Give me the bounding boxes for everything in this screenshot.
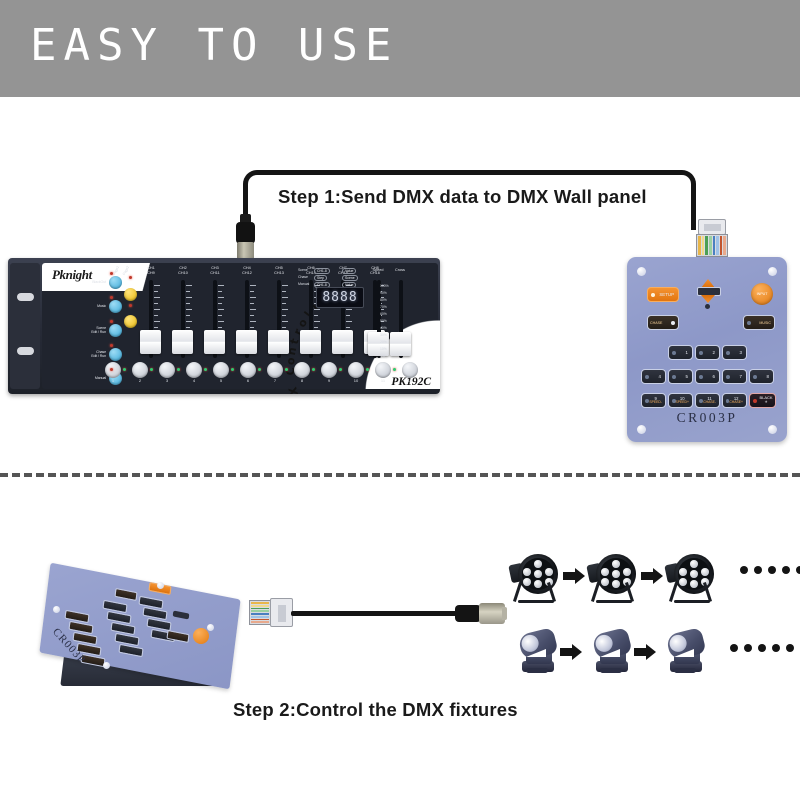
par-led — [523, 568, 531, 576]
scene-button-number: 4 — [186, 378, 202, 383]
channel-led — [285, 368, 288, 371]
par-led — [545, 568, 553, 576]
section-divider — [0, 473, 800, 477]
button-number: 7 — [740, 374, 742, 379]
screw — [768, 425, 777, 434]
mode-button-music[interactable]: Music — [64, 296, 122, 316]
channel-label: CH3CH11 — [202, 266, 228, 275]
button-caption: 12CHASE+ — [729, 397, 743, 405]
scene-button-12[interactable]: 12CHASE+ — [722, 393, 747, 408]
input-label: INPUT — [757, 292, 768, 296]
par-led — [534, 560, 542, 568]
rj45-pins — [696, 234, 728, 257]
par-yoke — [514, 582, 558, 604]
screw — [637, 267, 646, 276]
rack-slot — [17, 347, 34, 355]
input-button[interactable]: INPUT — [751, 283, 773, 305]
scene-button-7[interactable]: 7 — [722, 369, 747, 384]
step1-caption: Step 1:Send DMX data to DMX Wall panel — [278, 186, 647, 208]
par-led — [601, 568, 609, 576]
panel-model-label: CR003P — [627, 410, 787, 426]
chase-label: CHASE — [650, 321, 662, 325]
scene-button-number: 8 — [294, 378, 310, 383]
fader-knob[interactable] — [236, 330, 257, 354]
mode-button-key[interactable] — [109, 300, 122, 313]
matrix-row-label: Chase — [298, 275, 308, 279]
button-led — [753, 399, 757, 403]
rj45-pins — [249, 600, 271, 625]
fader-knob[interactable] — [204, 330, 225, 354]
xlr-body — [455, 605, 481, 622]
par-led — [701, 568, 709, 576]
scene-button-4[interactable]: 4 — [641, 369, 666, 384]
setup-button[interactable]: SETUP — [647, 287, 679, 302]
button-led — [726, 375, 730, 379]
par-fixture — [510, 552, 562, 606]
moving-head-fixture — [664, 627, 712, 675]
scene-button-5[interactable]: 5 — [668, 369, 693, 384]
mode-led — [110, 344, 113, 347]
mode-button-scene[interactable]: SceneEdit / Run — [64, 320, 122, 340]
channel-led — [312, 368, 315, 371]
matrix-row-label: Scene — [298, 268, 308, 272]
dmx-controller-device: Pknight DMX Controller PK192C BlackOutMu… — [8, 258, 440, 394]
wall-panel-cr003p: SETUP INPUT CHASE MUSIC 123456789SPEED-1… — [627, 257, 787, 442]
fader-knob[interactable] — [332, 330, 353, 354]
controller-display: 8888 — [316, 287, 364, 308]
button-led — [726, 351, 730, 355]
channel-label: CH4CH12 — [234, 266, 260, 275]
page2-button[interactable] — [124, 315, 137, 328]
button-number: 8 — [767, 374, 769, 379]
mode-button-chase[interactable]: ChaseEdit / Run — [64, 344, 122, 364]
page-title: EASY TO USE — [30, 20, 398, 71]
channel-fader[interactable] — [204, 280, 226, 358]
scene-button-6[interactable] — [240, 362, 256, 378]
master-fader-label: Cross — [387, 268, 413, 273]
button-led — [699, 375, 703, 379]
mode-button-label: BlackOut — [92, 280, 106, 284]
par-fixture — [666, 552, 718, 606]
music-label: MUSIC — [759, 321, 771, 325]
percent-tick: 30% — [380, 333, 387, 337]
button-number: 2 — [713, 350, 715, 355]
scene-button-8[interactable] — [294, 362, 310, 378]
scene-button-4[interactable] — [186, 362, 202, 378]
flow-arrow-icon — [560, 644, 582, 660]
fader-knob[interactable] — [390, 332, 411, 356]
channel-led — [231, 368, 234, 371]
channel-led — [258, 368, 261, 371]
channel-led — [339, 368, 342, 371]
scene-button-3[interactable] — [159, 362, 175, 378]
button-caption: 11CHASE- — [703, 397, 716, 405]
page1-button[interactable] — [124, 288, 137, 301]
flow-arrow-icon — [634, 644, 656, 660]
scene-button-number: 12 — [402, 378, 418, 383]
matrix-cell-label: Value — [342, 268, 356, 274]
scene-button-2[interactable] — [132, 362, 148, 378]
scene-button-7[interactable] — [267, 362, 283, 378]
display-value: 8888 — [322, 290, 357, 305]
scene-button-6[interactable]: 6 — [695, 369, 720, 384]
channel-label: CH1CH9 — [138, 266, 164, 275]
black-button[interactable]: BLACK☀ — [749, 393, 776, 408]
flow-arrow-icon — [563, 568, 585, 584]
percent-tick: 40% — [380, 326, 387, 330]
percent-tick: 100% — [380, 284, 389, 288]
chase-button[interactable]: CHASE — [647, 315, 679, 330]
scene-button-number: 11 — [375, 378, 391, 383]
par-fixture — [588, 552, 640, 606]
percent-tick: 0% — [380, 354, 385, 358]
sensor-arrow-icon — [701, 295, 715, 303]
moving-head-fixture — [590, 627, 638, 675]
scene-button-3[interactable]: 3 — [722, 345, 747, 360]
channel-label: CH2CH10 — [170, 266, 196, 275]
button-caption: 9SPEED- — [649, 397, 662, 405]
scene-button-number: 5 — [213, 378, 229, 383]
header-banner: EASY TO USE — [0, 0, 800, 97]
screw — [207, 624, 214, 631]
scene-button-number: 6 — [240, 378, 256, 383]
mode-button-label: Music — [97, 304, 106, 308]
rack-ear-left — [10, 263, 40, 389]
mode-button-key[interactable] — [109, 324, 122, 337]
mode-led — [110, 368, 113, 371]
channel-fader[interactable] — [140, 280, 162, 358]
scene-button-10[interactable]: 10SPEED+ — [668, 393, 693, 408]
par-yoke — [592, 582, 636, 604]
scene-button-number: 3 — [159, 378, 175, 383]
xlr-body — [236, 222, 255, 244]
fader-knob[interactable] — [268, 330, 289, 354]
mover-lens — [668, 633, 689, 654]
fader-knob[interactable] — [300, 330, 321, 354]
scene-button-11[interactable]: 11CHASE- — [695, 393, 720, 408]
scene-button-1[interactable]: 1 — [668, 345, 693, 360]
wall-panel-angled: CR003P — [45, 580, 235, 695]
master-fader-cross[interactable] — [390, 280, 412, 358]
par-led — [612, 570, 620, 578]
channel-led — [150, 368, 153, 371]
xlr-connector-step2 — [455, 603, 507, 624]
screw — [53, 606, 60, 613]
percent-tick: 70% — [380, 305, 387, 309]
screw — [637, 425, 646, 434]
scene-button-number: 9 — [321, 378, 337, 383]
button-number: 4 — [659, 374, 661, 379]
button-led — [672, 375, 676, 379]
channel-fader[interactable] — [236, 280, 258, 358]
xlr-tip — [502, 607, 507, 620]
rack-slot — [17, 293, 34, 301]
mode-button-label: SceneEdit / Run — [91, 326, 106, 334]
scene-button-number: 7 — [267, 378, 283, 383]
button-number: 3 — [740, 350, 742, 355]
channel-led — [177, 368, 180, 371]
par-led — [612, 560, 620, 568]
channel-fader[interactable] — [172, 280, 194, 358]
scene-button-9[interactable] — [321, 362, 337, 378]
par-led — [679, 568, 687, 576]
scene-button-number: 2 — [132, 378, 148, 383]
channel-led — [123, 368, 126, 371]
par-led — [690, 560, 698, 568]
rj45-clip — [270, 598, 293, 627]
ellipsis-dots — [740, 566, 800, 574]
channel-led — [204, 368, 207, 371]
mode-button-key[interactable] — [109, 348, 122, 361]
scene-button-9[interactable]: 9SPEED- — [641, 393, 666, 408]
button-number: 5 — [686, 374, 688, 379]
matrix-cell-label: Scene — [342, 275, 358, 281]
matrix-cell-label: Step — [314, 275, 327, 281]
button-led — [672, 351, 676, 355]
par-led — [623, 568, 631, 576]
par-led — [690, 570, 698, 578]
mode-led — [110, 272, 113, 275]
scene-button-8[interactable]: 8 — [749, 369, 774, 384]
par-led — [534, 570, 542, 578]
channel-led — [366, 368, 369, 371]
moving-head-fixture — [516, 627, 564, 675]
button-led — [645, 375, 649, 379]
percent-tick: 10% — [380, 347, 387, 351]
ellipsis-dots — [730, 644, 794, 652]
mover-lens — [520, 633, 541, 654]
mode-button-label: ChaseEdit / Run — [91, 350, 106, 358]
fader-knob[interactable] — [172, 330, 193, 354]
matrix-row-label: Manual — [298, 282, 309, 286]
scene-button-2[interactable]: 2 — [695, 345, 720, 360]
scene-button-10[interactable] — [348, 362, 364, 378]
percent-tick: 80% — [380, 298, 387, 302]
button-caption: 10SPEED+ — [676, 397, 689, 405]
rj45-clip — [698, 219, 726, 235]
angled-input-button[interactable] — [193, 628, 209, 644]
mover-lens — [594, 633, 615, 654]
channel-fader[interactable] — [268, 280, 290, 358]
screw — [157, 582, 164, 589]
scene-button-5[interactable] — [213, 362, 229, 378]
matrix-cell-label: CH1-8 — [314, 268, 330, 274]
percent-tick: 50% — [380, 319, 387, 323]
button-led — [753, 375, 757, 379]
screw — [768, 267, 777, 276]
setup-label: SETUP — [659, 292, 674, 297]
screw — [103, 662, 110, 669]
par-yoke — [670, 582, 714, 604]
mode-led — [110, 320, 113, 323]
mode-led — [110, 296, 113, 299]
scene-button-1[interactable] — [105, 362, 121, 378]
page-led — [129, 304, 132, 307]
scene-button-12[interactable] — [402, 362, 418, 378]
percent-tick: 90% — [380, 291, 387, 295]
dmx-cable-step2 — [291, 611, 466, 616]
scene-button-number: 1 — [105, 378, 121, 383]
scene-button-number: 10 — [348, 378, 364, 383]
channel-label: CH5CH13 — [266, 266, 292, 275]
percent-tick: 20% — [380, 340, 387, 344]
mode-button-key[interactable] — [109, 276, 122, 289]
flow-arrow-icon — [641, 568, 663, 584]
rj45-connector-step2 — [249, 598, 293, 627]
channel-led — [393, 368, 396, 371]
ir-sensor — [697, 287, 721, 296]
music-button[interactable]: MUSIC — [743, 315, 775, 330]
percent-tick: 60% — [380, 312, 387, 316]
button-number: 6 — [713, 374, 715, 379]
black-button-label: BLACK☀ — [759, 396, 772, 404]
step2-caption: Step 2:Control the DMX fixtures — [233, 699, 518, 721]
button-led — [699, 351, 703, 355]
rj45-connector-step1 — [694, 219, 730, 257]
page-led — [129, 276, 132, 279]
indicator-dot — [705, 304, 710, 309]
fader-knob[interactable] — [140, 330, 161, 354]
scene-button-11[interactable] — [375, 362, 391, 378]
button-number: 1 — [686, 350, 688, 355]
